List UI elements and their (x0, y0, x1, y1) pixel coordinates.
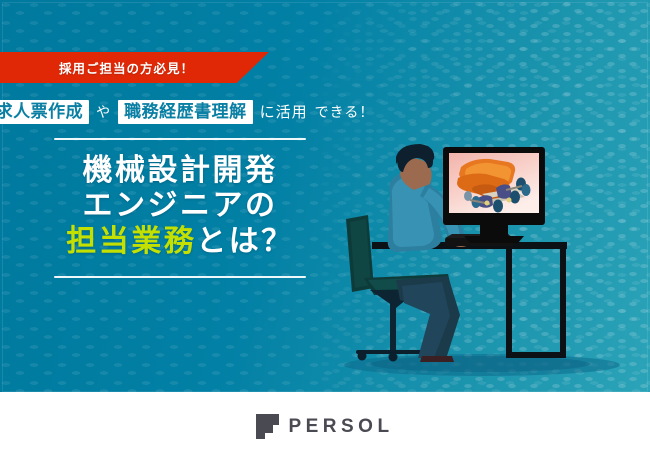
persol-logo-text: PERSOL (288, 417, 393, 436)
headline-block: 機械設計開発 エンジニアの 担当業務とは？ (0, 153, 360, 259)
ribbon-banner: 採用ご担当の方必見！ (0, 52, 269, 83)
floor-shadow-core (370, 356, 590, 372)
headline-line-1: 機械設計開発 (0, 153, 360, 188)
engineer-at-desk-illustration (330, 140, 650, 392)
subhead-row: 求人票作成 や 職務経歴書理解 に活用 できる！ (4, 100, 360, 124)
ribbon-label: 採用ご担当の方必見！ (59, 58, 210, 77)
subhead-suffix-1: に活用 (260, 105, 308, 120)
artwork-stage: 採用ご担当の方必見！ 求人票作成 や 職務経歴書理解 に活用 できる！ 機械設計… (0, 0, 650, 392)
divider-top (54, 138, 306, 140)
footer: PERSOL (0, 392, 650, 460)
copy-block: 求人票作成 や 職務経歴書理解 に活用 できる！ 機械設計開発 エンジニアの 担… (0, 100, 360, 278)
banner-root: 採用ご担当の方必見！ 求人票作成 や 職務経歴書理解 に活用 できる！ 機械設計… (0, 0, 650, 460)
persol-logo: PERSOL (256, 414, 393, 439)
headline-accent: 担当業務 (66, 225, 196, 258)
persol-logo-mark (256, 414, 279, 439)
divider-bottom (54, 276, 306, 278)
subhead-connector: や (96, 105, 111, 119)
headline-line-3: 担当業務とは？ (0, 224, 360, 259)
monitor-stand-base (464, 236, 524, 243)
subhead-suffix-2: できる！ (315, 105, 375, 119)
chip-resume-understanding: 職務経歴書理解 (118, 100, 253, 124)
headline-tail: とは？ (196, 225, 294, 258)
headline-line-2: エンジニアの (0, 188, 360, 223)
chip-job-posting: 求人票作成 (0, 100, 89, 124)
